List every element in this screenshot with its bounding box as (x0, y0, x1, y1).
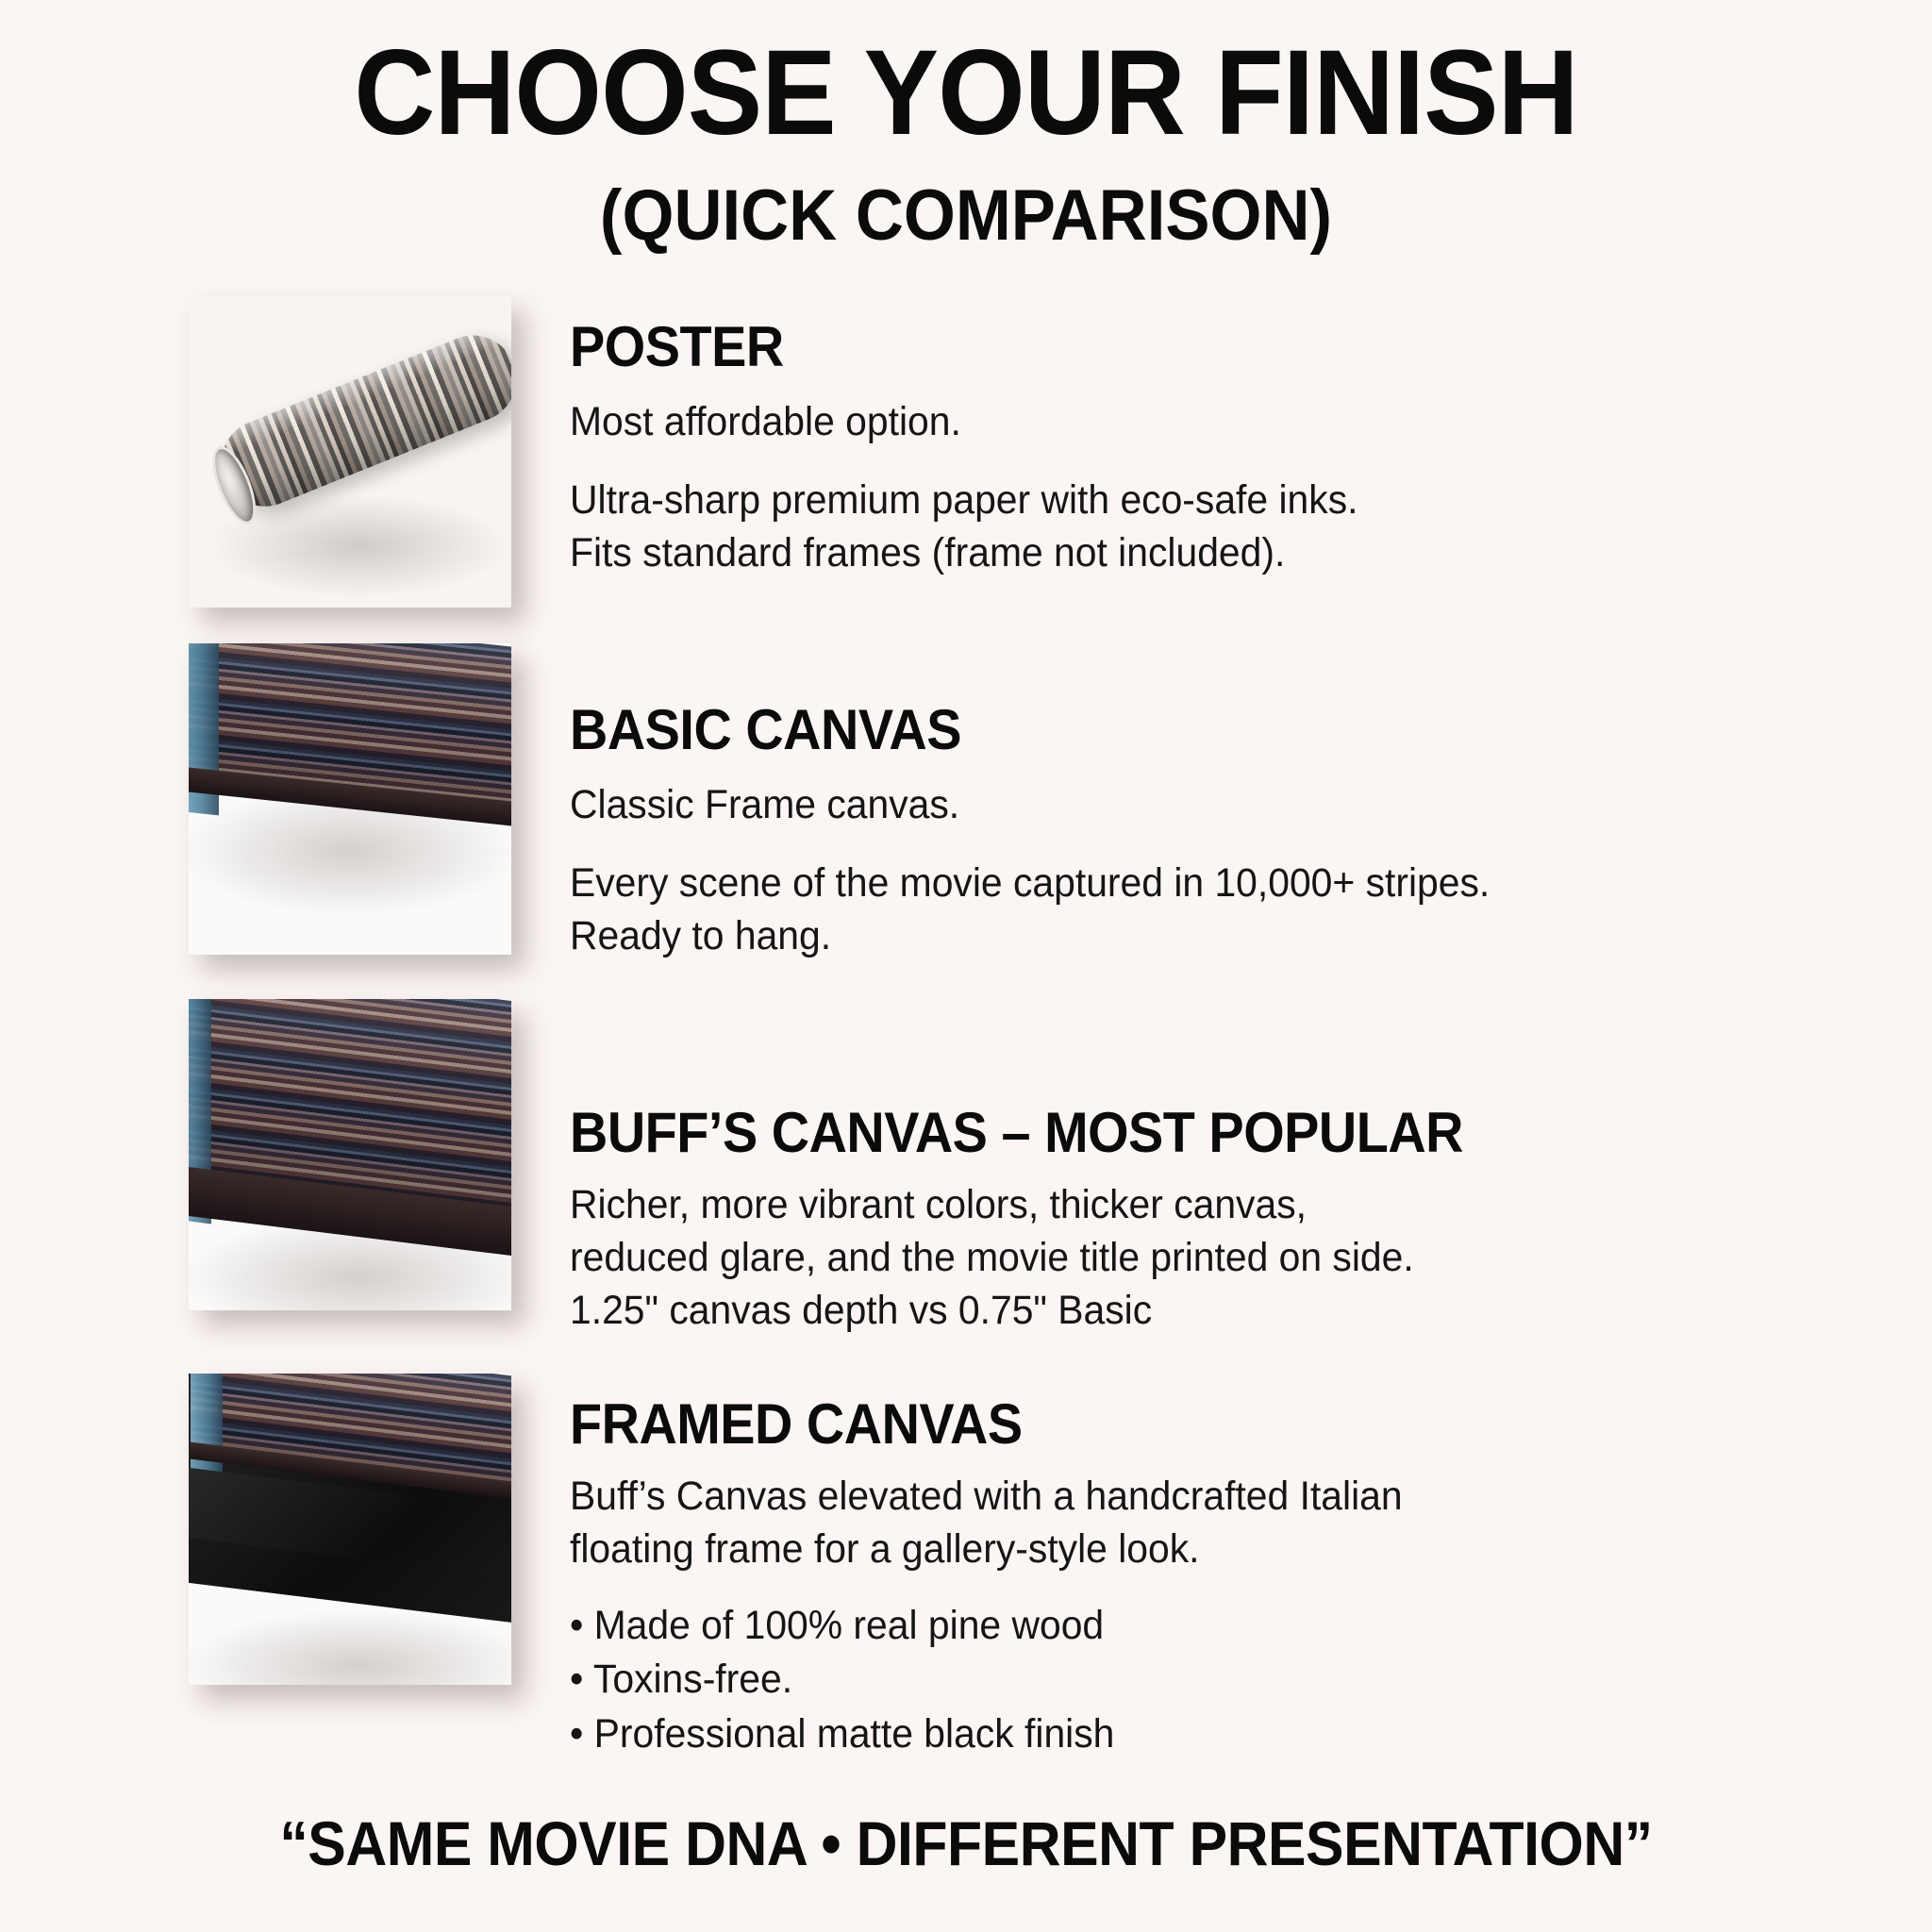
detail-line: reduced glare, and the movie title print… (570, 1232, 1482, 1285)
framed-canvas-bullet-list: • Made of 100% real pine wood • Toxins-f… (570, 1599, 1403, 1761)
option-row-buffs-canvas: BUFF’S CANVAS – MOST POPULAR Richer, mor… (0, 999, 1932, 1338)
list-item: • Made of 100% real pine wood (570, 1599, 1403, 1653)
detail-line: Ultra-sharp premium paper with eco-safe … (570, 475, 1357, 527)
framed-canvas-thumbnail (189, 1374, 511, 1685)
detail-line: Fits standard frames (frame not included… (570, 527, 1357, 580)
buffs-canvas-thumbnail (189, 999, 511, 1310)
footer-tagline: “SAME MOVIE DNA • DIFFERENT PRESENTATION… (77, 1807, 1855, 1879)
poster-thumbnail (189, 296, 511, 608)
detail-line: 1.25" canvas depth vs 0.75" Basic (570, 1285, 1482, 1338)
detail-line: Every scene of the movie captured in 10,… (570, 858, 1490, 910)
option-detail-framed-canvas: Buff’s Canvas elevated with a handcrafte… (570, 1471, 1403, 1576)
basic-canvas-corner-photo (189, 643, 511, 955)
footer: “SAME MOVIE DNA • DIFFERENT PRESENTATION… (0, 1807, 1932, 1879)
detail-line: floating frame for a gallery-style look. (570, 1524, 1403, 1576)
option-detail-basic-canvas: Every scene of the movie captured in 10,… (570, 858, 1490, 963)
detail-line: Ready to hang. (570, 910, 1490, 963)
option-heading-basic-canvas: BASIC CANVAS (570, 700, 1471, 760)
options-list: POSTER Most affordable option. Ultra-sha… (0, 296, 1932, 1761)
page-title: CHOOSE YOUR FINISH (68, 32, 1865, 156)
framed-canvas-copy: FRAMED CANVAS Buff’s Canvas elevated wit… (511, 1374, 1446, 1761)
option-row-basic-canvas: BASIC CANVAS Classic Frame canvas. Every… (0, 643, 1932, 962)
option-lede-basic-canvas: Classic Frame canvas. (570, 779, 1490, 831)
option-heading-buffs-canvas: BUFF’S CANVAS – MOST POPULAR (570, 1103, 1463, 1163)
buffs-canvas-corner-photo (189, 999, 511, 1310)
rolled-poster-tube-photo (189, 296, 511, 608)
option-lede-poster: Most affordable option. (570, 396, 1357, 448)
option-heading-framed-canvas: FRAMED CANVAS (570, 1394, 1385, 1455)
option-detail-buffs-canvas: Richer, more vibrant colors, thicker can… (570, 1179, 1482, 1338)
header: CHOOSE YOUR FINISH (QUICK COMPARISON) (0, 0, 1932, 255)
page-subtitle: (QUICK COMPARISON) (68, 176, 1865, 256)
option-row-framed-canvas: FRAMED CANVAS Buff’s Canvas elevated wit… (0, 1374, 1932, 1761)
detail-line: Richer, more vibrant colors, thicker can… (570, 1179, 1482, 1232)
framed-canvas-corner-photo (189, 1374, 511, 1685)
list-item: • Professional matte black finish (570, 1707, 1403, 1761)
option-row-poster: POSTER Most affordable option. Ultra-sha… (0, 296, 1932, 608)
poster-copy: POSTER Most affordable option. Ultra-sha… (511, 296, 1399, 579)
option-detail-poster: Ultra-sharp premium paper with eco-safe … (570, 475, 1357, 580)
option-heading-poster: POSTER (570, 317, 1341, 377)
list-item: • Toxins-free. (570, 1653, 1403, 1707)
basic-canvas-copy: BASIC CANVAS Classic Frame canvas. Every… (511, 643, 1539, 962)
detail-line: Buff’s Canvas elevated with a handcrafte… (570, 1471, 1403, 1524)
basic-canvas-thumbnail (189, 643, 511, 955)
buffs-canvas-copy: BUFF’S CANVAS – MOST POPULAR Richer, mor… (511, 999, 1530, 1338)
finish-comparison-infographic: CHOOSE YOUR FINISH (QUICK COMPARISON) PO… (0, 0, 1932, 1932)
